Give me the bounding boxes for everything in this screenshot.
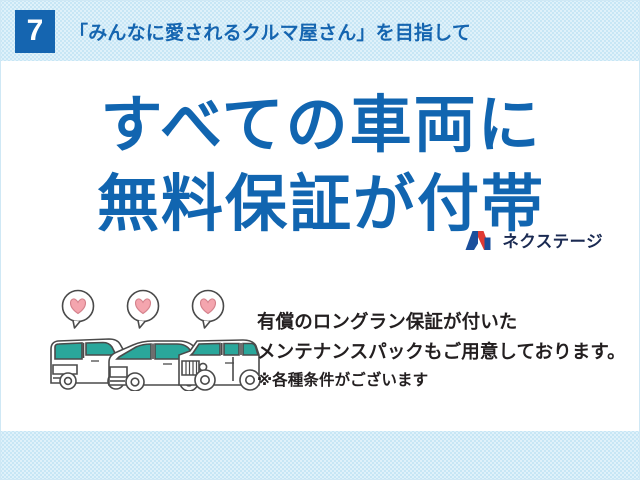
brand-name: ネクステージ [502,228,603,252]
promo-banner: 7 「みんなに愛されるクルマ屋さん」を目指して すべての車両に 無料保証が付帯 [0,0,640,480]
section-number-badge: 7 [15,10,55,53]
nexstage-n-icon [465,230,495,251]
heart-speech-bubble-2 [128,291,159,329]
description-note: ※各種条件がございます [257,369,627,393]
page-title: すべての車両に 無料保証が付帯 [1,93,640,239]
cars-illustration [47,289,267,391]
description-block: 有償のロングラン保証が付いた メンテナンスパックもご用意しております。 ※各種条… [257,307,627,393]
footer-band [1,431,640,479]
header-title: 「みんなに愛されるクルマ屋さん」を目指して [69,18,471,45]
description-line-1: 有償のロングラン保証が付いた [257,307,627,337]
brand-logo: ネクステージ [465,228,603,252]
description-line-2: メンテナンスパックもご用意しております。 [257,337,627,367]
heart-speech-bubble-3 [193,291,224,329]
heart-speech-bubble-1 [63,291,94,329]
header: 7 「みんなに愛されるクルマ屋さん」を目指して [1,1,640,61]
headline-line-1: すべての車両に [1,93,640,160]
